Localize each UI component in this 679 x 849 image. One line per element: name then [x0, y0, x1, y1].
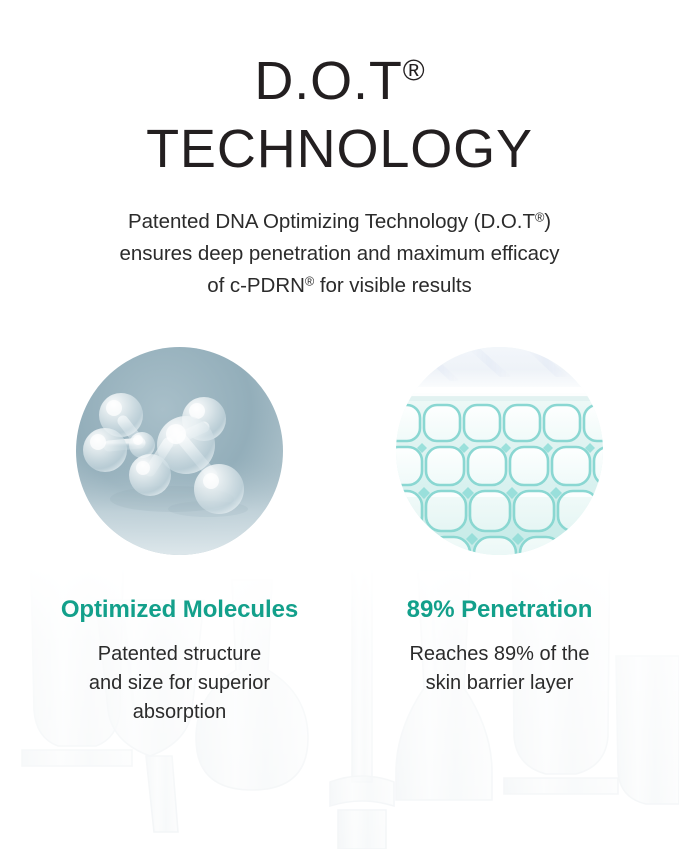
- feature-description-line: and size for superior: [30, 669, 330, 698]
- registered-trademark-icon: ®: [535, 210, 544, 225]
- page-title-line-1: D.O.T®: [0, 0, 679, 108]
- feature-list: Optimized Molecules Patented structure a…: [0, 347, 679, 726]
- intro-line-3-text-b: for visible results: [314, 274, 472, 297]
- intro-line-2: ensures deep penetration and maximum eff…: [60, 238, 620, 270]
- intro-line-3-text-a: of c-PDRN: [207, 274, 305, 297]
- registered-trademark-icon: ®: [305, 273, 314, 288]
- feature-optimized-molecules: Optimized Molecules Patented structure a…: [76, 347, 283, 726]
- feature-penetration: 89% Penetration Reaches 89% of the skin …: [396, 347, 603, 697]
- page-title-line-2: TECHNOLOGY: [0, 108, 679, 176]
- intro-line-1: Patented DNA Optimizing Technology (D.O.…: [60, 206, 620, 238]
- feature-title: Optimized Molecules: [30, 597, 330, 623]
- intro-paragraph: Patented DNA Optimizing Technology (D.O.…: [60, 206, 620, 301]
- registered-trademark-icon: ®: [403, 55, 425, 88]
- skin-barrier-lattice-image: [396, 347, 603, 555]
- dot-technology-page: D.O.T® TECHNOLOGY Patented DNA Optimizin…: [0, 0, 679, 849]
- feature-description-line: Reaches 89% of the: [350, 640, 650, 669]
- molecule-model-image: [76, 347, 283, 555]
- feature-description: Patented structure and size for superior…: [30, 640, 330, 727]
- intro-line-1-text-a: Patented DNA Optimizing Technology (D.O.…: [128, 210, 535, 233]
- feature-description-line: skin barrier layer: [350, 669, 650, 698]
- feature-description-line: Patented structure: [30, 640, 330, 669]
- feature-description: Reaches 89% of the skin barrier layer: [350, 640, 650, 698]
- page-title: D.O.T® TECHNOLOGY: [0, 0, 679, 176]
- feature-description-line: absorption: [30, 698, 330, 727]
- intro-line-1-text-b: ): [544, 210, 551, 233]
- feature-title: 89% Penetration: [350, 597, 650, 623]
- intro-line-3: of c-PDRN® for visible results: [60, 270, 620, 302]
- page-title-line-1-text: D.O.T: [254, 51, 402, 111]
